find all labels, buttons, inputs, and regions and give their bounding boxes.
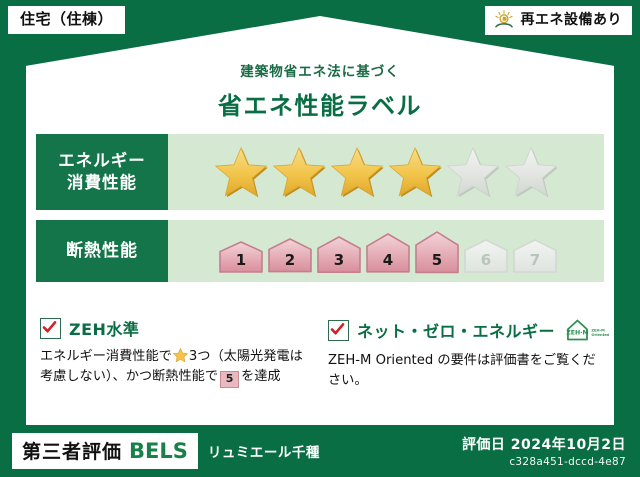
net-zero-checkbox xyxy=(328,320,349,341)
insulation-grade-number: 7 xyxy=(512,251,558,269)
renewable-equipment-badge: 再エネ設備あり xyxy=(485,6,633,35)
title-subtitle: 建築物省エネ法に基づく xyxy=(26,60,614,80)
insulation-performance-label: 断熱性能 xyxy=(36,220,168,282)
net-zero-title: ネット・ゼロ・エネルギー xyxy=(357,318,555,342)
insulation-grade-number: 2 xyxy=(267,251,313,269)
energy-label-line2: 消費性能 xyxy=(67,172,137,194)
insulation-grade-filled: 3 xyxy=(316,228,362,274)
title-block: 建築物省エネ法に基づく 省エネ性能ラベル xyxy=(26,60,614,121)
energy-performance-label: エネルギー 消費性能 xyxy=(36,134,168,210)
energy-label-card: 住宅（住棟） 再エネ設備あり 建築物省エネ法に基づく xyxy=(0,0,640,477)
star-filled-icon xyxy=(214,146,268,198)
insulation-grade-number: 3 xyxy=(316,251,362,269)
sun-solar-icon xyxy=(493,10,515,30)
star-empty-icon xyxy=(446,146,500,198)
evaluation-meta: 評価日 2024年10月2日 c328a451-dccd-4e87 xyxy=(462,434,626,468)
zeh-text-end: を達成 xyxy=(241,369,281,384)
insulation-grade-number: 1 xyxy=(218,251,264,269)
energy-performance-row: エネルギー 消費性能 xyxy=(36,134,604,210)
energy-label-line1: エネルギー xyxy=(58,150,146,172)
insulation-grade-number: 6 xyxy=(463,251,509,269)
star-filled-icon xyxy=(272,146,326,198)
page-title: 省エネ性能ラベル xyxy=(26,86,614,121)
zeh-section: ZEH水準 エネルギー消費性能で3つ（太陽光発電は考慮しない）、かつ断熱性能で5… xyxy=(40,316,600,392)
insulation-grade-filled: 1 xyxy=(218,228,264,274)
bels-logo-text: BELS xyxy=(129,439,188,463)
rating-rows: エネルギー 消費性能 断熱性能 1234567 xyxy=(36,134,604,292)
insulation-grade-empty: 7 xyxy=(512,228,558,274)
category-chip: 住宅（住棟） xyxy=(8,6,125,34)
insulation-performance-row: 断熱性能 1234567 xyxy=(36,220,604,282)
svg-text:Oriented: Oriented xyxy=(591,333,609,337)
zeh-text-before-star: エネルギー消費性能で xyxy=(40,349,172,364)
star-rating xyxy=(168,134,604,210)
zeh-standard-checkbox xyxy=(40,318,61,339)
renewable-badge-label: 再エネ設備あり xyxy=(521,12,623,28)
insulation-grade-number: 4 xyxy=(365,251,411,269)
insulation-grade-filled: 2 xyxy=(267,228,313,274)
inline-star-icon xyxy=(173,348,188,362)
star-filled-icon xyxy=(330,146,384,198)
insulation-grade-number: 5 xyxy=(414,251,460,269)
bels-jp-label: 第三者評価 xyxy=(22,437,122,464)
net-zero-description: ZEH-M Oriented の要件は評価書をご覧ください。 xyxy=(328,351,600,392)
insulation-grade-scale: 1234567 xyxy=(168,220,604,282)
svg-text:ZEH-M: ZEH-M xyxy=(591,328,605,332)
building-name: リュミエール千種 xyxy=(208,441,320,461)
evaluation-date: 評価日 2024年10月2日 xyxy=(462,434,626,454)
label-panel: 建築物省エネ法に基づく 省エネ性能ラベル エネルギー 消費性能 断熱性能 xyxy=(26,16,614,425)
zeh-standard-header: ZEH水準 xyxy=(40,316,312,340)
net-zero-header: ネット・ゼロ・エネルギー ZEH·M ZEH-M Oriented xyxy=(328,316,600,344)
zeh-m-oriented-logo: ZEH·M ZEH-M Oriented xyxy=(565,316,609,344)
evaluation-id: c328a451-dccd-4e87 xyxy=(462,456,626,468)
net-zero-energy-column: ネット・ゼロ・エネルギー ZEH·M ZEH-M Oriented ZEH-M … xyxy=(328,316,600,392)
inline-grade-badge: 5 xyxy=(220,371,239,388)
bels-chip: 第三者評価 BELS xyxy=(12,433,198,469)
zeh-standard-column: ZEH水準 エネルギー消費性能で3つ（太陽光発電は考慮しない）、かつ断熱性能で5… xyxy=(40,316,312,392)
zeh-standard-description: エネルギー消費性能で3つ（太陽光発電は考慮しない）、かつ断熱性能で5を達成 xyxy=(40,347,312,388)
insulation-label-text: 断熱性能 xyxy=(66,240,138,263)
label-footer: 第三者評価 BELS リュミエール千種 評価日 2024年10月2日 c328a… xyxy=(0,425,640,477)
star-empty-icon xyxy=(504,146,558,198)
insulation-grade-filled: 5 xyxy=(414,228,460,274)
svg-text:ZEH·M: ZEH·M xyxy=(566,329,589,336)
insulation-grade-empty: 6 xyxy=(463,228,509,274)
star-filled-icon xyxy=(388,146,442,198)
insulation-grade-filled: 4 xyxy=(365,228,411,274)
zeh-standard-title: ZEH水準 xyxy=(69,316,139,340)
